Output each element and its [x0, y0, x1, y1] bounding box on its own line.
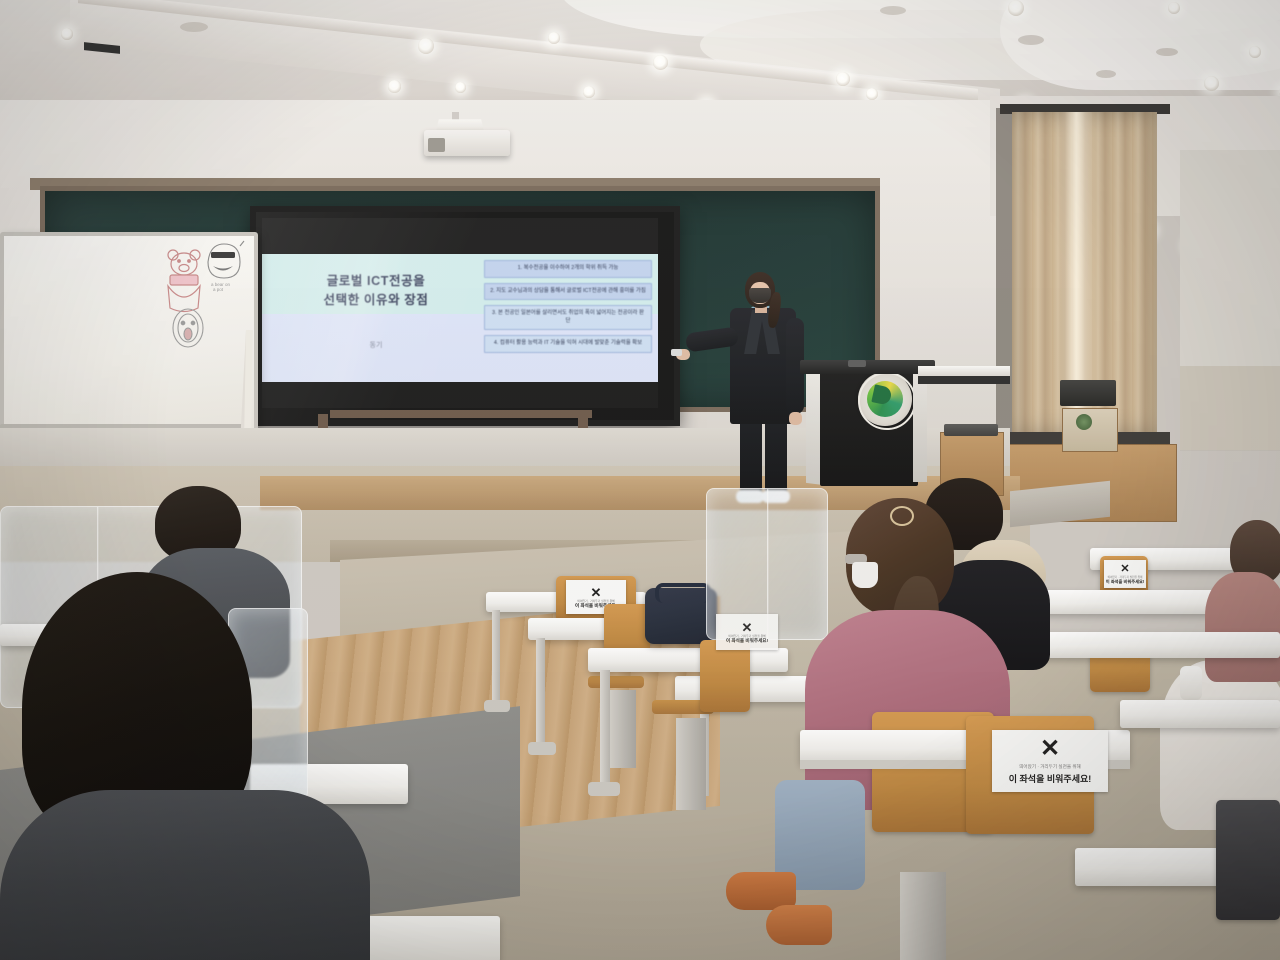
water-bottle	[1180, 666, 1202, 700]
projector-lens	[428, 138, 445, 152]
desk-leg	[600, 670, 610, 790]
flat-panel-display[interactable]: 글로벌 ICT전공을 선택한 이유와 장점 동기 1. 복수전공을 이수하여 2…	[250, 206, 680, 426]
lecture-podium[interactable]	[820, 368, 918, 486]
presenter-leg	[765, 418, 787, 496]
x-mark-icon: ✕	[1120, 564, 1129, 575]
podium-keyboard-shelf[interactable]	[918, 366, 1010, 376]
lecture-hall-photo: 글로벌 ICT전공을 선택한 이유와 장점 동기 1. 복수전공을 이수하여 2…	[0, 0, 1280, 960]
podium-mic-base	[848, 360, 866, 367]
presenter-hand	[789, 412, 802, 425]
podium-top-surface	[800, 360, 935, 374]
presentation-clicker[interactable]	[671, 349, 682, 356]
seat-closed-sign: ✕ 띄어앉기 · 거리두기 실천을 위해 이 좌석을 비워주세요!	[716, 614, 778, 650]
hair-tie	[890, 506, 914, 526]
x-mark-icon: ✕	[591, 586, 602, 599]
desk	[588, 648, 788, 672]
face-mask	[749, 288, 771, 303]
x-mark-icon: ✕	[742, 621, 753, 634]
chair-post	[676, 718, 706, 810]
seat-closed-sign: ✕ 띄어앉기 · 거리두기 실천을 위해 이 좌석을 비워주세요!	[1104, 560, 1146, 588]
sunglasses-face-doodle-icon: a bear on a pot	[200, 240, 246, 296]
right-wall-column	[1180, 150, 1280, 450]
chair	[700, 640, 750, 712]
desk	[1040, 632, 1280, 658]
side-cabinet	[1062, 408, 1118, 452]
podium-shelf-underside	[918, 376, 1010, 384]
x-mark-icon: ✕	[1040, 737, 1060, 761]
presenter-leg	[740, 418, 762, 496]
chair-post	[610, 690, 636, 768]
av-equipment	[944, 424, 998, 436]
seat-closed-sign: ✕ 띄어앉기 · 거리두기 실천을 위해 이 좌석을 비워주세요!	[992, 730, 1108, 792]
av-amplifier	[1060, 380, 1116, 406]
desk-foot	[484, 700, 510, 712]
desk-leg	[536, 638, 545, 748]
podium-side-panel	[913, 372, 927, 482]
student-shoe	[766, 905, 832, 945]
desk	[1120, 700, 1280, 728]
chair-seat	[588, 676, 644, 688]
face-mask	[852, 562, 878, 588]
chair	[1216, 800, 1280, 920]
student-hoodie	[0, 790, 370, 960]
svg-text:a pot: a pot	[213, 287, 224, 292]
desk-leg	[492, 610, 500, 706]
whiteboard[interactable]: a bear on a pot	[0, 232, 258, 440]
display-crossbar	[330, 410, 592, 418]
chair-post	[900, 872, 946, 960]
student-torso	[1205, 572, 1280, 682]
university-emblem	[858, 372, 912, 426]
cabinet-decal	[1076, 414, 1092, 430]
desk-foot	[588, 782, 620, 796]
desk-foot	[528, 742, 556, 755]
surprised-face-doodle-icon	[166, 306, 210, 354]
